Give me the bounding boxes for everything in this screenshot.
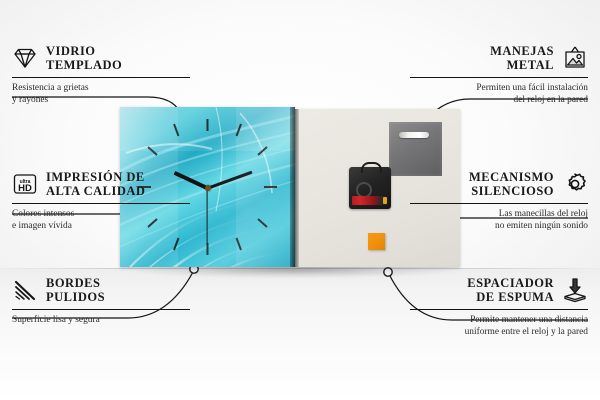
feature-header: VIDRIO TEMPLADO [12, 44, 190, 72]
battery [352, 196, 388, 205]
feature-description: Las manecillas del reloj no emiten ningú… [410, 209, 588, 232]
feature-mecanismo-silencioso: MECANISMO SILENCIOSO Las manecillas del … [410, 170, 588, 233]
feature-divider [12, 203, 190, 204]
feature-title-line1: IMPRESIÓN DE [46, 170, 145, 184]
feature-description: Resistencia a grietas y rayones [12, 83, 190, 106]
feature-title: VIDRIO TEMPLADO [46, 44, 122, 72]
feature-manejas-metal: MANEJAS METAL Permiten una fácil instala… [410, 44, 588, 107]
feature-title: IMPRESIÓN DE ALTA CALIDAD [46, 170, 145, 198]
feature-desc-line2: e imagen vívida [12, 221, 190, 233]
feature-desc-line2: no emiten ningún sonido [410, 221, 588, 233]
diamond-icon [12, 45, 38, 71]
feature-description: Permite mantener una distancia uniforme … [410, 315, 588, 338]
feature-description: Superficie lisa y segura [12, 315, 190, 327]
feature-title-line1: VIDRIO [46, 44, 122, 58]
foam-spacer [368, 233, 385, 250]
feature-desc-line1: Colores intensos [12, 209, 190, 221]
ultra-hd-icon: ultra HD [12, 171, 38, 197]
picture-frame-hanger-icon [562, 45, 588, 71]
feature-divider [12, 77, 190, 78]
feature-title-line1: BORDES [46, 276, 105, 290]
feature-description: Colores intensos e imagen vívida [12, 209, 190, 232]
feature-description: Permiten una fácil instalación del reloj… [410, 83, 588, 106]
feature-title: BORDES PULIDOS [46, 276, 105, 304]
feature-header: MANEJAS METAL [410, 44, 588, 72]
feature-desc-line2: uniforme entre el reloj y la pared [410, 327, 588, 339]
feature-title: MECANISMO SILENCIOSO [469, 170, 554, 198]
feature-divider [410, 309, 588, 310]
feature-impresion-alta-calidad: ultra HD IMPRESIÓN DE ALTA CALIDAD Color… [12, 170, 190, 233]
feature-header: ultra HD IMPRESIÓN DE ALTA CALIDAD [12, 170, 190, 198]
feature-desc-line1: Permiten una fácil instalación [410, 83, 588, 95]
feature-header: BORDES PULIDOS [12, 276, 190, 304]
feature-divider [410, 77, 588, 78]
gear-icon [562, 171, 588, 197]
feature-desc-line2: y rayones [12, 95, 190, 107]
feature-desc-line2: del reloj en la pared [410, 95, 588, 107]
feature-desc-line1: Las manecillas del reloj [410, 209, 588, 221]
feature-vidrio-templado: VIDRIO TEMPLADO Resistencia a grietas y … [12, 44, 190, 107]
feature-header: MECANISMO SILENCIOSO [410, 170, 588, 198]
feature-title-line2: SILENCIOSO [469, 184, 554, 198]
feature-title-line2: DE ESPUMA [467, 290, 554, 304]
feature-header: ESPACIADOR DE ESPUMA [410, 276, 588, 304]
polished-edge-icon [12, 277, 38, 303]
feature-title-line1: MANEJAS [490, 44, 554, 58]
battery-terminal [383, 197, 387, 204]
feature-title-line1: ESPACIADOR [467, 276, 554, 290]
mechanism-hanging-loop [361, 162, 382, 173]
feature-desc-line1: Permite mantener una distancia [410, 315, 588, 327]
feature-title-line1: MECANISMO [469, 170, 554, 184]
clock-mechanism-box [349, 167, 391, 209]
hanger-slot [399, 132, 429, 138]
infographic-canvas: VIDRIO TEMPLADO Resistencia a grietas y … [0, 0, 600, 400]
ultra-hd-icon-large-text: HD [18, 183, 32, 194]
feature-desc-line1: Superficie lisa y segura [12, 315, 190, 327]
foam-spacer-arrow-icon [562, 277, 588, 303]
metal-hanger-plate [389, 122, 442, 176]
feature-espaciador-espuma: ESPACIADOR DE ESPUMA Permite mantener un… [410, 276, 588, 339]
feature-title: MANEJAS METAL [490, 44, 554, 72]
feature-desc-line1: Resistencia a grietas [12, 83, 190, 95]
back-panel-left-edge [295, 109, 299, 267]
feature-title-line2: PULIDOS [46, 290, 105, 304]
feature-title: ESPACIADOR DE ESPUMA [467, 276, 554, 304]
feature-title-line2: METAL [490, 58, 554, 72]
feature-divider [12, 309, 190, 310]
feature-title-line2: ALTA CALIDAD [46, 184, 145, 198]
feature-divider [410, 203, 588, 204]
feature-title-line2: TEMPLADO [46, 58, 122, 72]
feature-bordes-pulidos: BORDES PULIDOS Superficie lisa y segura [12, 276, 190, 327]
